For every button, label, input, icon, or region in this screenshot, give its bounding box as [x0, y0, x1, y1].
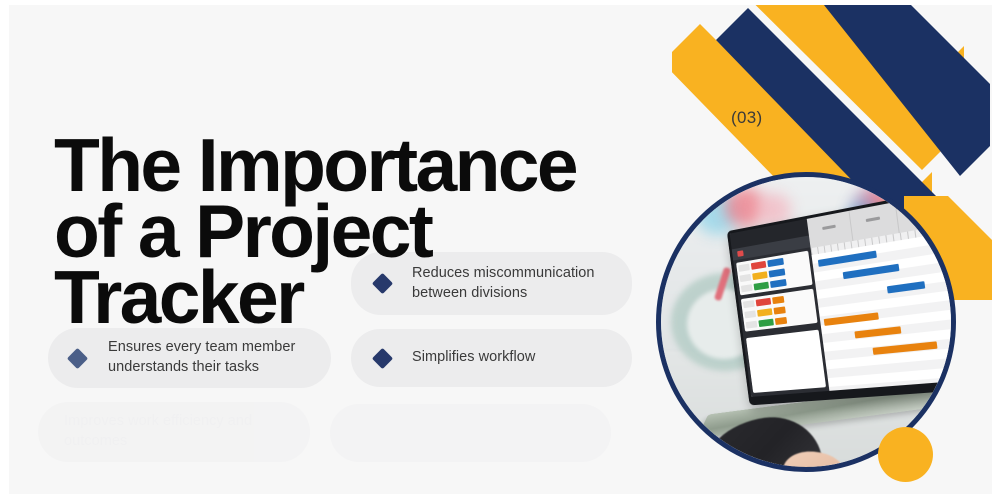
project-tracker-app: [730, 193, 951, 397]
feature-card-improves[interactable]: Improves work efficiency and outcomes: [38, 402, 310, 462]
photo-inner: [661, 177, 951, 467]
yellow-accent-dot: [878, 427, 933, 482]
feature-card-label: Ensures every team member understands th…: [108, 338, 311, 377]
feature-card-label: Simplifies workflow: [412, 348, 535, 368]
gantt-bar: [818, 251, 877, 267]
laptop-screen-bezel: [727, 189, 951, 405]
feature-card-simplifies[interactable]: Simplifies workflow: [351, 329, 632, 387]
laptop-device: [677, 196, 951, 459]
feature-card-placeholder[interactable]: [330, 404, 611, 462]
app-task-list: [733, 247, 821, 335]
page-title: The Importance of a Project Tracker: [54, 132, 654, 330]
gantt-bar: [873, 341, 938, 355]
app-detail-pane: [746, 330, 826, 393]
gantt-bar: [824, 312, 879, 326]
feature-card-label: Improves work efficiency and outcomes: [64, 412, 290, 451]
task-group: [741, 289, 818, 332]
gantt-bar: [887, 281, 925, 293]
slide-canvas: (03) The Importance of a Project Tracker…: [0, 0, 992, 500]
section-number: (03): [731, 108, 762, 128]
gantt-bar: [854, 326, 901, 338]
diamond-bullet-icon: [67, 347, 88, 368]
title-line-3: Tracker: [54, 264, 654, 330]
diamond-bullet-icon: [372, 347, 393, 368]
gantt-body: [812, 232, 951, 391]
gantt-chart-panel: [807, 193, 951, 391]
gantt-bar: [843, 264, 900, 279]
